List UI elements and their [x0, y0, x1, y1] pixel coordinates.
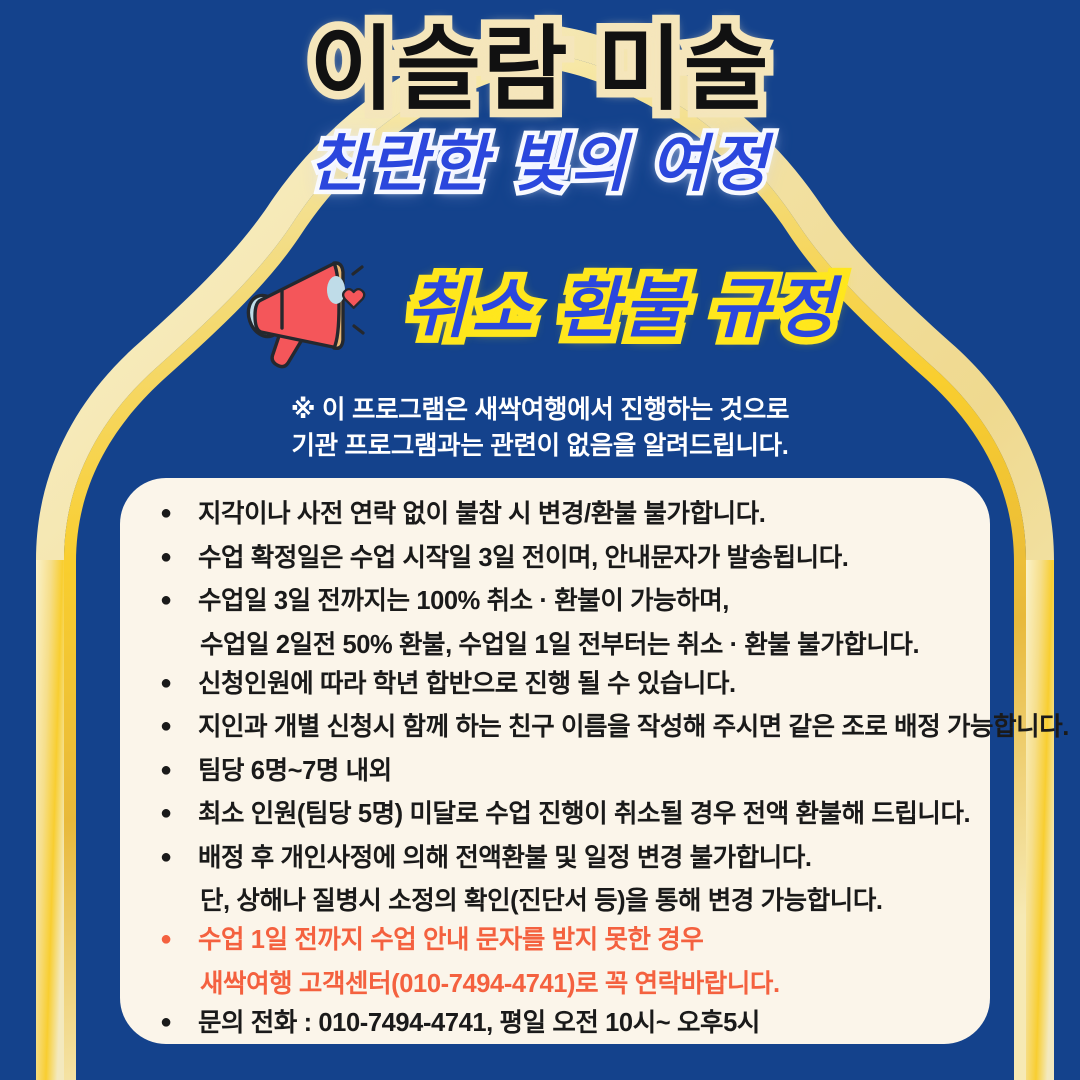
rule-item: 수업일 3일 전까지는 100% 취소 · 환불이 가능하며,: [160, 585, 980, 618]
bullet-icon: [160, 803, 190, 823]
rule-item: 수업 1일 전까지 수업 안내 문자를 받지 못한 경우: [160, 924, 980, 957]
page-subtitle: 찬란한 빛의 여정: [0, 132, 1080, 197]
rule-item: 수업일 2일전 50% 환불, 수업일 1일 전부터는 취소 · 환불 불가합니…: [160, 629, 980, 662]
rule-item: 새싹여행 고객센터(010-7494-4741)로 꼭 연락바랍니다.: [160, 968, 980, 1001]
page-title: 이슬람 미술: [0, 22, 1080, 120]
bullet-icon: [160, 547, 190, 567]
rule-text: 수업일 3일 전까지는 100% 취소 · 환불이 가능하며,: [190, 585, 980, 618]
rule-item: 지인과 개별 신청시 함께 하는 친구 이름을 작성해 주시면 같은 조로 배정…: [160, 711, 980, 744]
bullet-icon: [160, 503, 190, 523]
rule-item: 최소 인원(팀당 5명) 미달로 수업 진행이 취소될 경우 전액 환불해 드립…: [160, 798, 980, 831]
rule-text: 수업 확정일은 수업 시작일 3일 전이며, 안내문자가 발송됩니다.: [190, 542, 980, 575]
rule-text: 팀당 6명~7명 내외: [190, 755, 980, 788]
bullet-icon: [160, 847, 190, 867]
rule-text: 지인과 개별 신청시 함께 하는 친구 이름을 작성해 주시면 같은 조로 배정…: [190, 711, 1069, 744]
rule-text: 단, 상해나 질병시 소정의 확인(진단서 등)을 통해 변경 가능합니다.: [190, 885, 980, 918]
headline-block: 이슬람 미술 찬란한 빛의 여정: [0, 22, 1080, 197]
rule-text: 지각이나 사전 연락 없이 불참 시 변경/환불 불가합니다.: [190, 498, 980, 531]
rule-item: 단, 상해나 질병시 소정의 확인(진단서 등)을 통해 변경 가능합니다.: [160, 885, 980, 918]
rules-list: 지각이나 사전 연락 없이 불참 시 변경/환불 불가합니다.수업 확정일은 수…: [160, 498, 980, 1050]
rule-text: 문의 전화 : 010-7494-4741, 평일 오전 10시~ 오후5시: [190, 1007, 980, 1040]
bullet-icon: [160, 673, 190, 693]
notice-line-2: 기관 프로그램과는 관련이 없음을 알려드립니다.: [0, 428, 1080, 464]
rule-text: 수업 1일 전까지 수업 안내 문자를 받지 못한 경우: [190, 924, 980, 957]
rule-item: 배정 후 개인사정에 의해 전액환불 및 일정 변경 불가합니다.: [160, 842, 980, 875]
rule-text: 수업일 2일전 50% 환불, 수업일 1일 전부터는 취소 · 환불 불가합니…: [190, 629, 980, 662]
arch-column-right: [1026, 560, 1054, 1080]
bullet-icon: [160, 1012, 190, 1032]
rule-item: 팀당 6명~7명 내외: [160, 755, 980, 788]
bullet-icon: [160, 929, 190, 949]
rule-text: 배정 후 개인사정에 의해 전액환불 및 일정 변경 불가합니다.: [190, 842, 980, 875]
rules-card: 지각이나 사전 연락 없이 불참 시 변경/환불 불가합니다.수업 확정일은 수…: [120, 478, 990, 1044]
arch-column-left: [36, 560, 64, 1080]
section-title: 취소 환불 규정: [407, 275, 840, 341]
bullet-icon: [160, 760, 190, 780]
bullet-icon: [160, 590, 190, 610]
poster-canvas: 이슬람 미술 찬란한 빛의 여정: [0, 0, 1080, 1080]
rule-item: 신청인원에 따라 학년 합반으로 진행 될 수 있습니다.: [160, 668, 980, 701]
rule-item: 수업 확정일은 수업 시작일 3일 전이며, 안내문자가 발송됩니다.: [160, 542, 980, 575]
rule-text: 최소 인원(팀당 5명) 미달로 수업 진행이 취소될 경우 전액 환불해 드립…: [190, 798, 980, 831]
rule-text: 새싹여행 고객센터(010-7494-4741)로 꼭 연락바랍니다.: [190, 968, 980, 1001]
rule-text: 신청인원에 따라 학년 합반으로 진행 될 수 있습니다.: [190, 668, 980, 701]
megaphone-icon: [241, 250, 373, 370]
rule-item: 지각이나 사전 연락 없이 불참 시 변경/환불 불가합니다.: [160, 498, 980, 531]
notice-line-1: ※ 이 프로그램은 새싹여행에서 진행하는 것으로: [0, 392, 1080, 428]
section-header: 취소 환불 규정: [0, 250, 1080, 370]
rule-item: 문의 전화 : 010-7494-4741, 평일 오전 10시~ 오후5시: [160, 1007, 980, 1040]
program-notice: ※ 이 프로그램은 새싹여행에서 진행하는 것으로 기관 프로그램과는 관련이 …: [0, 392, 1080, 464]
bullet-icon: [160, 716, 190, 736]
